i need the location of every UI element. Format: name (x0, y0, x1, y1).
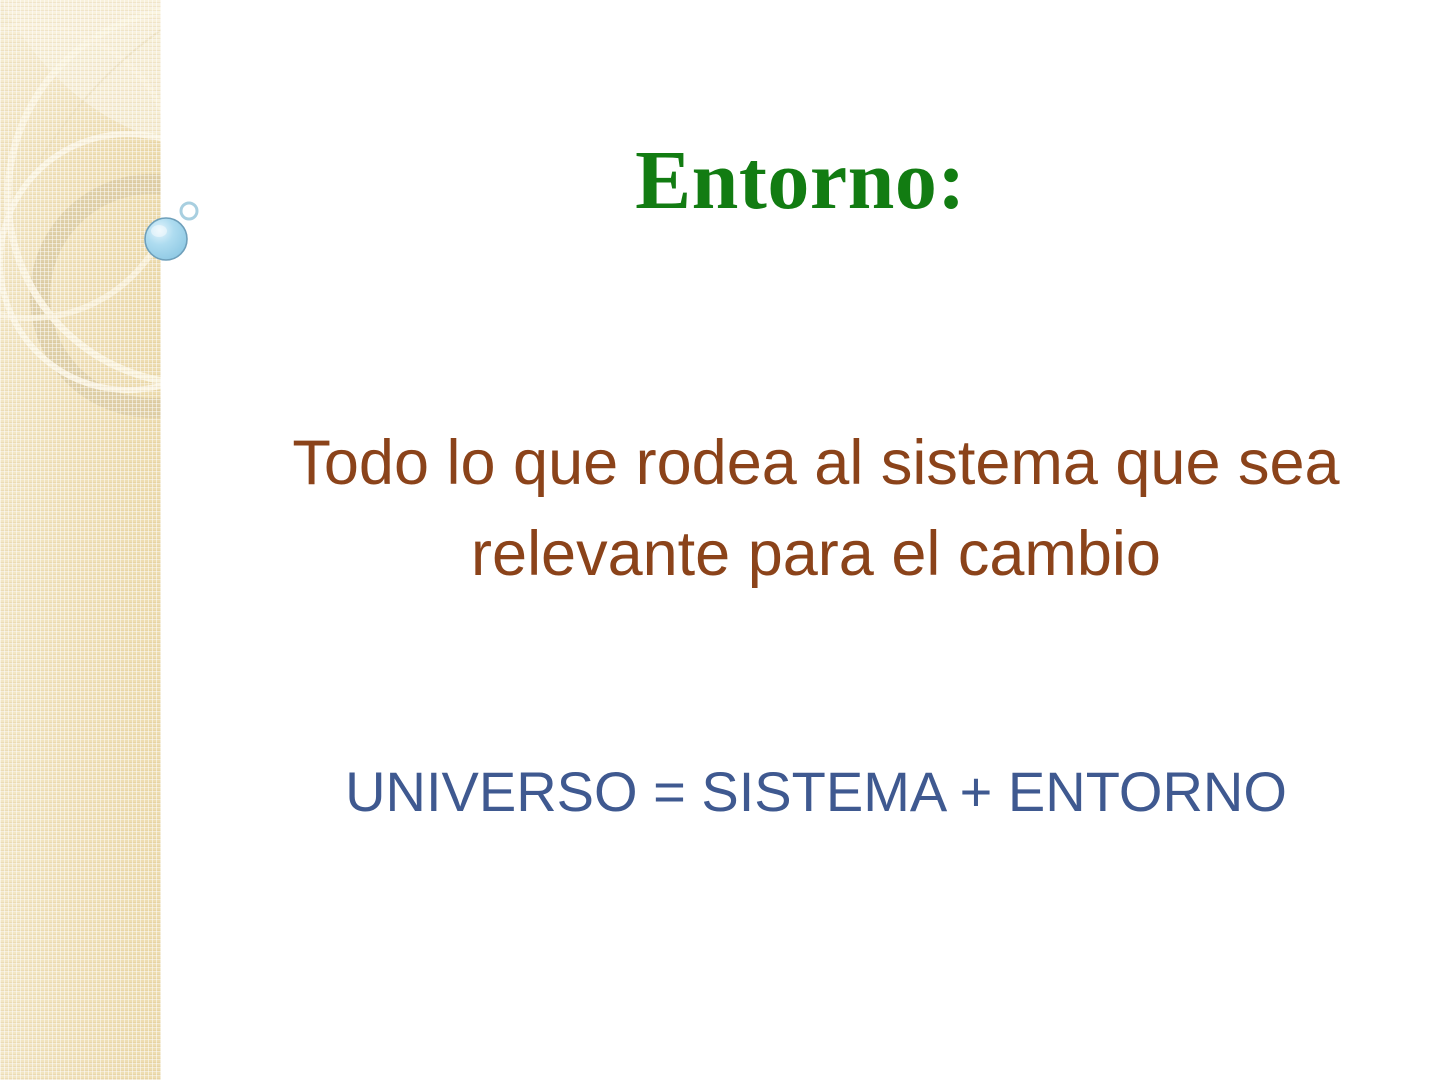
presentation-slide: Entorno: Todo lo que rodea al sistema qu… (0, 0, 1440, 1080)
slide-body-text: Todo lo que rodea al sistema que sea rel… (221, 418, 1411, 601)
slide-title: Entorno: (161, 138, 1440, 224)
slide-content-area: Entorno: Todo lo que rodea al sistema qu… (161, 0, 1440, 1080)
slide-equation-text: UNIVERSO = SISTEMA + ENTORNO (221, 758, 1411, 825)
